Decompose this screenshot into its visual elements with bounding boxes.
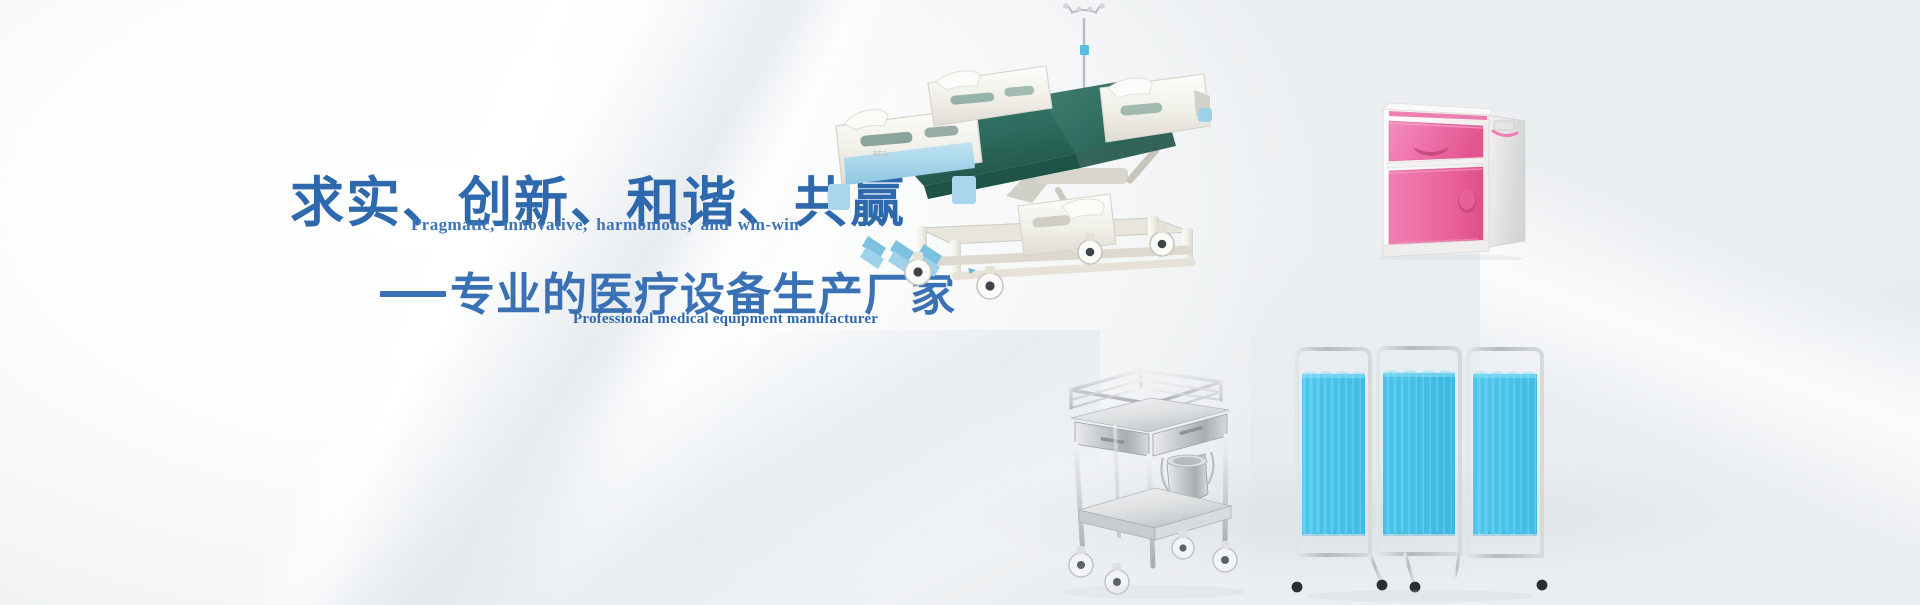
hero-banner: 求实、创新、和谐、共赢 Pragmatic, innovative, harmo… [0, 0, 1920, 605]
hospital-bed-illustration: BED [800, 0, 1320, 310]
bed-corner-block-left [828, 184, 850, 210]
iv-clamp [1080, 45, 1089, 55]
screen-panel-1 [1297, 349, 1370, 555]
screen-panel-3 [1468, 349, 1542, 556]
product-instrument-trolley [1045, 360, 1280, 605]
cabinet-door [1389, 167, 1483, 245]
product-hospital-bed: BED [800, 0, 1320, 310]
rail-release-blue [1198, 108, 1212, 122]
bedside-cabinet-illustration [1375, 85, 1565, 260]
screen-panel-2 [1378, 348, 1460, 554]
bed-corner-block-mid [952, 176, 976, 204]
trolley-lower-shelf [1079, 488, 1231, 540]
instrument-trolley-illustration [1045, 360, 1280, 605]
product-bedside-cabinet [1375, 85, 1565, 260]
folding-screen-illustration [1285, 340, 1560, 605]
trolley-top-deck [1071, 398, 1229, 456]
product-folding-screen [1285, 340, 1560, 605]
screen-feet [1297, 554, 1542, 583]
em-dash-rule [380, 291, 446, 297]
svg-text:BED: BED [873, 151, 887, 158]
subline-english: Professional medical equipment manufactu… [573, 311, 878, 328]
headline-english: Pragmatic, innovative, harmonious, and w… [411, 215, 799, 235]
bed-siderail-head [1100, 74, 1212, 142]
cabinet-drawer [1389, 121, 1483, 161]
